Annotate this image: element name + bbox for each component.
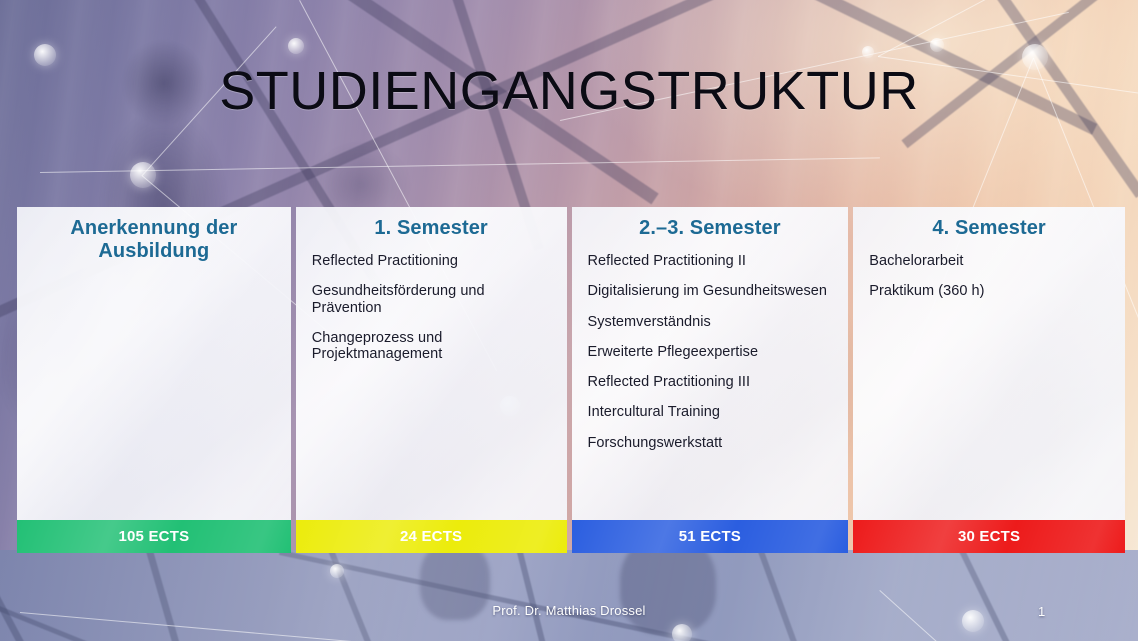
module-item: Reflected Practitioning III — [588, 374, 833, 390]
column-4-semester[interactable]: 4. Semester Bachelorarbeit Praktikum (36… — [853, 207, 1125, 553]
column-header: 1. Semester — [312, 217, 551, 240]
column-body: 2.–3. Semester Reflected Practitioning I… — [572, 207, 849, 520]
module-item: Systemverständnis — [588, 314, 833, 330]
network-node — [930, 38, 944, 52]
column-items: Bachelorarbeit Praktikum (360 h) — [869, 253, 1109, 299]
module-item: Erweiterte Pflegeexpertise — [588, 344, 833, 360]
module-item: Forschungswerkstatt — [588, 435, 833, 451]
module-item: Reflected Practitioning — [312, 253, 551, 269]
semester-columns: Anerkennung der Ausbildung 105 ECTS 1. S… — [17, 207, 1125, 553]
network-node — [862, 46, 874, 58]
ects-label: 105 ECTS — [118, 528, 189, 545]
network-node — [288, 38, 304, 54]
module-item: Gesundheitsförderung und Prävention — [312, 283, 551, 315]
module-item: Reflected Practitioning II — [588, 253, 833, 269]
column-header: 4. Semester — [869, 217, 1109, 240]
footer-page-number: 1 — [1038, 604, 1045, 619]
column-body: 1. Semester Reflected Practitioning Gesu… — [296, 207, 567, 520]
network-node — [130, 162, 156, 188]
column-anerkennung-der-ausbildung[interactable]: Anerkennung der Ausbildung 105 ECTS — [17, 207, 291, 553]
column-2-3-semester[interactable]: 2.–3. Semester Reflected Practitioning I… — [572, 207, 849, 553]
column-header: 2.–3. Semester — [588, 217, 833, 240]
ects-badge: 51 ECTS — [572, 520, 849, 553]
ects-badge: 30 ECTS — [853, 520, 1125, 553]
footer-author: Prof. Dr. Matthias Drossel — [0, 603, 1138, 618]
ects-label: 51 ECTS — [679, 528, 741, 545]
column-header: Anerkennung der Ausbildung — [33, 217, 275, 263]
page-title: STUDIENGANGSTRUKTUR — [0, 60, 1138, 122]
ects-label: 30 ECTS — [958, 528, 1020, 545]
background-sheen — [0, 550, 1138, 641]
module-item: Intercultural Training — [588, 404, 833, 420]
column-items: Reflected Practitioning Gesundheitsförde… — [312, 253, 551, 362]
module-item: Praktikum (360 h) — [869, 283, 1109, 299]
module-item: Digitalisierung im Gesundheitswesen — [588, 283, 833, 299]
background-bottom-band — [0, 550, 1138, 641]
slide-canvas: STUDIENGANGSTRUKTUR Anerkennung der Ausb… — [0, 0, 1138, 641]
ects-badge: 105 ECTS — [17, 520, 291, 553]
column-items: Reflected Practitioning II Digitalisieru… — [588, 253, 833, 451]
column-1-semester[interactable]: 1. Semester Reflected Practitioning Gesu… — [296, 207, 567, 553]
module-item: Bachelorarbeit — [869, 253, 1109, 269]
column-body: Anerkennung der Ausbildung — [17, 207, 291, 520]
column-body: 4. Semester Bachelorarbeit Praktikum (36… — [853, 207, 1125, 520]
ects-label: 24 ECTS — [400, 528, 462, 545]
module-item: Changeprozess und Projektmanagement — [312, 330, 551, 362]
ects-badge: 24 ECTS — [296, 520, 567, 553]
